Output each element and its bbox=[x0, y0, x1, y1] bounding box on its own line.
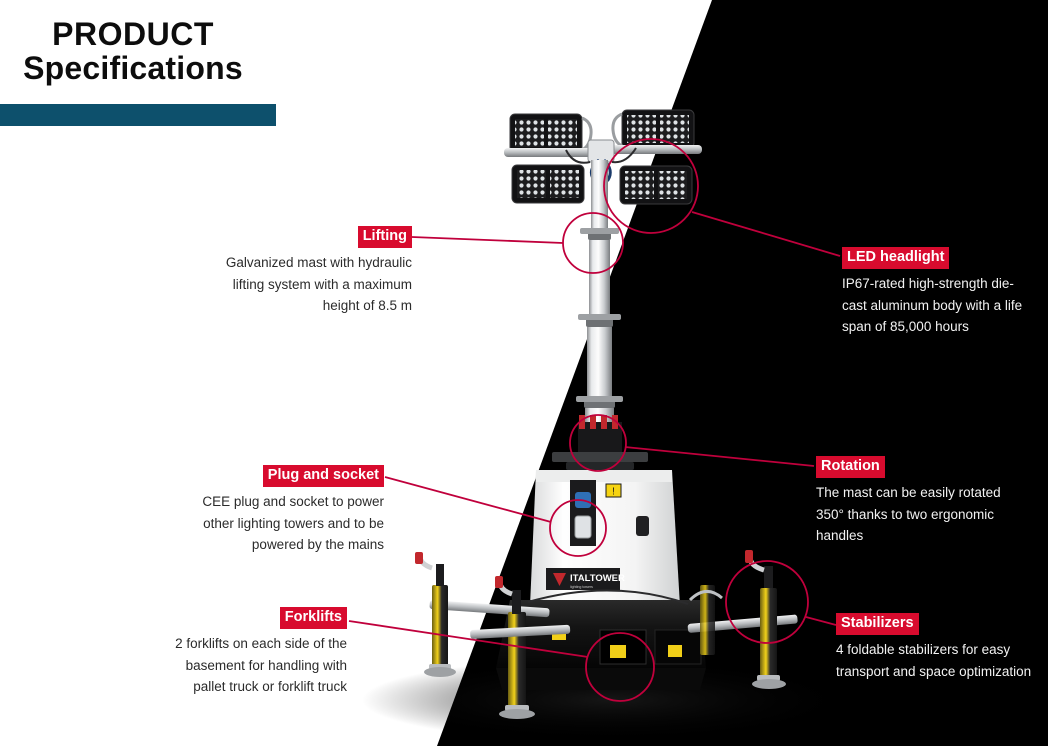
callout-lifting-desc: Galvanized mast with hydraulic lifting s… bbox=[204, 252, 412, 318]
leader-line-lifting bbox=[412, 237, 563, 243]
highlight-circle-lifting bbox=[563, 213, 623, 273]
callout-led-headlight: LED headlight IP67-rated high-strength d… bbox=[842, 247, 1038, 338]
callout-forklifts-tag: Forklifts bbox=[280, 607, 347, 629]
highlight-circle-plug bbox=[550, 500, 606, 556]
leader-line-led bbox=[692, 212, 840, 256]
callout-plug-and-socket: Plug and socket CEE plug and socket to p… bbox=[176, 465, 384, 556]
callout-lifting-tag: Lifting bbox=[358, 226, 412, 248]
leader-line-forklifts bbox=[349, 621, 588, 657]
callout-led-tag: LED headlight bbox=[842, 247, 949, 269]
callout-rotation-desc: The mast can be easily rotated 350° than… bbox=[816, 482, 1026, 548]
callout-stabilizers-desc: 4 foldable stabilizers for easy transpor… bbox=[836, 639, 1036, 683]
callout-stabilizers: Stabilizers 4 foldable stabilizers for e… bbox=[836, 613, 1036, 682]
highlight-circle-forklifts bbox=[586, 633, 654, 701]
leader-line-rotation bbox=[625, 447, 814, 466]
highlight-circle-rotation bbox=[570, 415, 626, 471]
leader-line-stabilizers bbox=[806, 617, 836, 625]
callout-rotation: Rotation The mast can be easily rotated … bbox=[816, 456, 1026, 547]
callout-stabilizers-tag: Stabilizers bbox=[836, 613, 919, 635]
product-specifications-slide: ! ITALTOWER lighting towers bbox=[0, 0, 1048, 746]
callout-plug-tag: Plug and socket bbox=[263, 465, 384, 487]
callout-forklifts-desc: 2 forklifts on each side of the basement… bbox=[160, 633, 347, 699]
callout-rotation-tag: Rotation bbox=[816, 456, 885, 478]
callout-plug-desc: CEE plug and socket to power other light… bbox=[176, 491, 384, 557]
highlight-circle-led bbox=[604, 139, 698, 233]
leader-line-plug bbox=[385, 477, 551, 522]
callout-lifting: Lifting Galvanized mast with hydraulic l… bbox=[204, 226, 412, 317]
callout-forklifts: Forklifts 2 forklifts on each side of th… bbox=[160, 607, 347, 698]
highlight-circle-stabilizers bbox=[726, 561, 808, 643]
callout-led-desc: IP67-rated high-strength die-cast alumin… bbox=[842, 273, 1038, 339]
